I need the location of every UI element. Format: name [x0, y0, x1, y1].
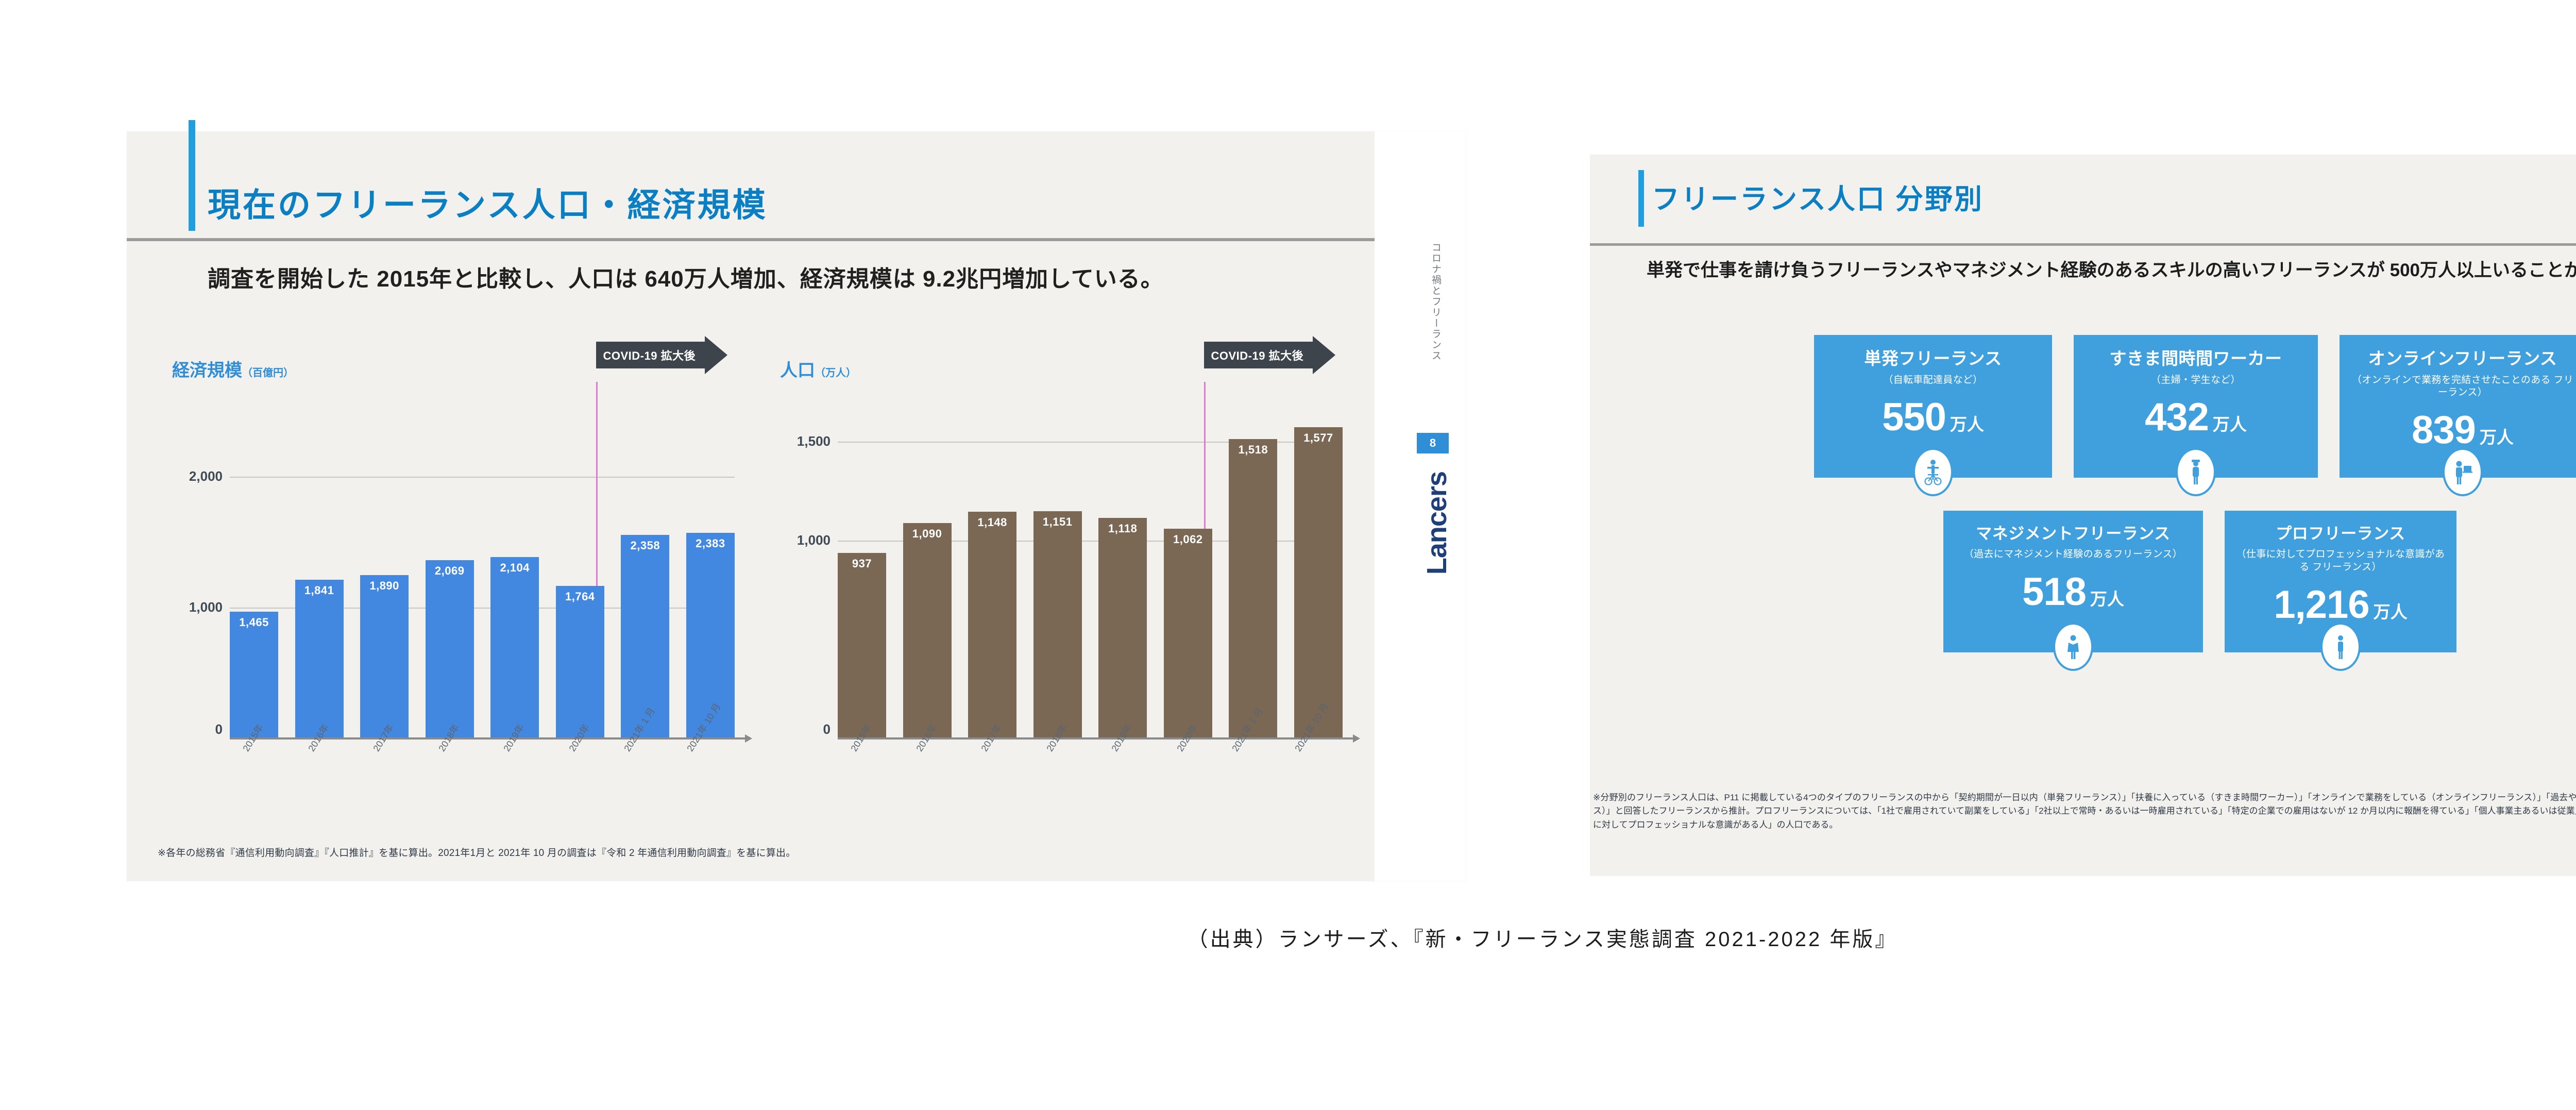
bar-slot: 1,151 2018年 — [1033, 399, 1082, 737]
bar-value: 2,358 — [621, 539, 669, 552]
bar-value: 1,148 — [968, 516, 1016, 529]
card-row-1: 単発フリーランス （自転車配達員など） 550 万人 — [1590, 335, 2576, 478]
bar-economic-2021-10: 2,383 2021年 10 月 — [686, 533, 735, 737]
bar-value: 1,090 — [903, 527, 952, 541]
ytick-economic-2000: 2,000 — [189, 468, 223, 484]
xtick-label: 2021年 1 月 — [1228, 705, 1266, 754]
title-divider-right — [1590, 243, 2576, 246]
person-standing-icon — [2176, 448, 2216, 496]
bar-slot: 937 2015年 — [838, 399, 886, 737]
card-title: マネジメントフリーランス — [1976, 524, 2170, 543]
accent-bar-right — [1638, 170, 1644, 227]
slide-left-lead: 調査を開始した 2015年と比較し、人口は 640万人増加、経済規模は 9.2兆… — [208, 260, 1164, 293]
bar-economic-2019: 2,104 2019年 — [490, 557, 539, 737]
bar-value: 2,104 — [490, 561, 539, 575]
card-tanpatsu-freelance[interactable]: 単発フリーランス （自転車配達員など） 550 万人 — [1814, 335, 2052, 478]
xaxis-population: 0 — [838, 737, 1353, 739]
card-online-freelance[interactable]: オンラインフリーランス （オンラインで業務を完結させたことのある フリーランス）… — [2340, 335, 2576, 478]
card-number: 550 — [1882, 398, 1946, 437]
lancers-logo: Lancers — [1421, 472, 1453, 575]
card-title: 単発フリーランス — [1864, 348, 2002, 369]
card-subtitle: （過去にマネジメント経験のあるフリーランス） — [1964, 548, 2182, 561]
bar-value: 1,062 — [1164, 533, 1212, 546]
ytick-economic-1000: 1,000 — [189, 599, 223, 615]
bar-slot: 1,148 2017年 — [968, 399, 1016, 737]
card-subtitle: （自転車配達員など） — [1883, 374, 1982, 387]
accent-bar-left — [189, 120, 195, 231]
bars-economic: 1,465 2015年 1,841 2016年 — [230, 399, 735, 737]
slide-left: 現在のフリーランス人口・経済規模 調査を開始した 2015年と比較し、人口は 6… — [127, 131, 1466, 881]
rail-vertical-label: コロナ禍とフリーランス — [1429, 242, 1443, 361]
ytick-economic-0: 0 — [215, 721, 223, 737]
category-cards: 単発フリーランス （自転車配達員など） 550 万人 — [1590, 335, 2576, 685]
card-unit: 万人 — [2480, 424, 2514, 448]
plot-economic: 1,000 2,000 0 COVID-19 拡大後 1,465 — [230, 399, 735, 739]
bar-slot: 1,890 2017年 — [360, 399, 409, 737]
bar-slot: 2,104 2019年 — [490, 399, 539, 737]
card-figure: 550 万人 — [1882, 398, 1984, 437]
card-number: 839 — [2412, 411, 2476, 450]
card-unit: 万人 — [1950, 411, 1984, 435]
bar-value: 1,118 — [1098, 522, 1147, 535]
card-unit: 万人 — [2374, 598, 2408, 623]
chart-economic-unit: （百億円） — [242, 367, 294, 379]
ytick-population-1500: 1,500 — [797, 433, 831, 449]
card-number: 432 — [2145, 398, 2209, 437]
card-figure: 839 万人 — [2412, 411, 2514, 450]
bar-economic-2018: 2,069 2018年 — [426, 560, 474, 737]
bar-value: 1,764 — [556, 590, 604, 603]
bar-economic-2020: 1,764 2020年 — [556, 586, 604, 737]
slide-right-footnote: ※分野別のフリーランス人口は、P11 に掲載している4つのタイプのフリーランスの… — [1590, 791, 2576, 832]
chart-zone: 経済規模（百億円） 1,000 2,000 0 COVID-19 拡大 — [127, 327, 1466, 843]
card-title: プロフリーランス — [2276, 524, 2405, 543]
bar-population-2015: 937 2015年 — [838, 553, 886, 737]
card-unit: 万人 — [2213, 411, 2247, 435]
person-suit-icon — [2053, 623, 2093, 671]
card-unit: 万人 — [2090, 585, 2124, 610]
bar-economic-2015: 1,465 2015年 — [230, 612, 278, 737]
source-caption: （出典）ランサーズ、『新・フリーランス実態調査 2021-2022 年版』 — [0, 922, 2576, 952]
chart-population-title-text: 人口 — [780, 361, 815, 380]
chart-population-unit: （万人） — [815, 367, 856, 379]
card-pro-freelance[interactable]: プロフリーランス （仕事に対してプロフェッショナルな意識がある フリーランス） … — [2225, 511, 2456, 652]
covid-badge-economic: COVID-19 拡大後 — [596, 342, 705, 368]
bar-slot: 1,465 2015年 — [230, 399, 278, 737]
bar-value: 1,890 — [360, 579, 409, 593]
person-laptop-icon — [2443, 448, 2483, 496]
bar-population-2020: 1,062 2020年 — [1164, 529, 1212, 737]
card-management-freelance[interactable]: マネジメントフリーランス （過去にマネジメント経験のあるフリーランス） 518 … — [1943, 511, 2203, 652]
bar-value: 1,518 — [1229, 443, 1277, 457]
bar-population-2021-10: 1,577 2021年 10 月 — [1294, 427, 1343, 737]
bar-value: 1,577 — [1294, 431, 1343, 445]
plot-population: 1,000 1,500 0 COVID-19 拡大後 937 — [838, 399, 1343, 739]
bar-economic-2016: 1,841 2016年 — [295, 580, 344, 737]
bar-population-2018: 1,151 2018年 — [1033, 511, 1082, 737]
xtick-label: 2021年 10 月 — [1291, 700, 1331, 754]
slide-left-rail: コロナ禍とフリーランス 8 Lancers — [1375, 131, 1466, 881]
card-figure: 1,216 万人 — [2274, 585, 2407, 625]
bar-economic-2021-01: 2,358 2021年 1 月 — [621, 535, 669, 737]
covid-badge-population: COVID-19 拡大後 — [1204, 342, 1313, 368]
bar-slot: 1,764 2020年 — [556, 399, 604, 737]
bar-slot: 1,062 2020年 — [1164, 399, 1212, 737]
page-root: 現在のフリーランス人口・経済規模 調査を開始した 2015年と比較し、人口は 6… — [0, 0, 2576, 1110]
chart-economic-title-text: 経済規模 — [172, 361, 242, 380]
bar-population-2021-01: 1,518 2021年 1 月 — [1229, 439, 1277, 737]
card-sukima-worker[interactable]: すきま間時間ワーカー （主婦・学生など） 432 万人 — [2074, 335, 2318, 478]
chart-economic-title: 経済規模（百億円） — [172, 356, 294, 381]
slide-left-footnote: ※各年の総務省『通信利用動向調査』『人口推計』を基に算出。2021年1月と 20… — [158, 845, 795, 859]
slide-left-title: 現在のフリーランス人口・経済規模 — [208, 179, 768, 226]
card-subtitle: （主婦・学生など） — [2151, 374, 2241, 387]
card-figure: 518 万人 — [2022, 573, 2124, 612]
bar-slot: 2,358 2021年 1 月 — [621, 399, 669, 737]
card-figure: 432 万人 — [2145, 398, 2247, 437]
title-divider-left — [127, 238, 1394, 241]
bar-population-2017: 1,148 2017年 — [968, 512, 1016, 737]
ytick-population-0: 0 — [823, 721, 831, 737]
chart-population-title: 人口（万人） — [780, 356, 856, 381]
bar-population-2019: 1,118 2019年 — [1098, 518, 1147, 737]
bar-value: 2,383 — [686, 537, 735, 550]
bar-value: 1,151 — [1033, 515, 1082, 529]
chart-population: 人口（万人） 1,000 1,500 0 COVID-19 拡大後 — [766, 327, 1374, 843]
bar-population-2016: 1,090 2016年 — [903, 523, 952, 737]
bar-value: 2,069 — [426, 564, 474, 578]
chart-economic-scale: 経済規模（百億円） 1,000 2,000 0 COVID-19 拡大 — [158, 327, 766, 843]
bar-slot: 2,069 2018年 — [426, 399, 474, 737]
slide-right-lead: 単発で仕事を請け負うフリーランスやマネジメント経験のあるスキルの高いフリーランス… — [1647, 258, 2576, 284]
card-number: 518 — [2022, 573, 2086, 612]
slide-right-title: フリーランス人口 分野別 — [1652, 176, 1984, 217]
bar-slot: 1,518 2021年 1 月 — [1229, 399, 1277, 737]
bars-population: 937 2015年 1,090 2016年 1, — [838, 399, 1343, 737]
xtick-label: 2021年 1 月 — [620, 705, 658, 754]
card-number: 1,216 — [2274, 585, 2369, 625]
person-pro-icon — [2320, 623, 2361, 671]
card-subtitle: （仕事に対してプロフェッショナルな意識がある フリーランス） — [2234, 548, 2447, 574]
xaxis-economic: 0 — [230, 737, 745, 739]
bar-slot: 2,383 2021年 10 月 — [686, 399, 735, 737]
xtick-label: 2021年 10 月 — [683, 700, 723, 754]
card-title: すきま間時間ワーカー — [2110, 348, 2282, 369]
bar-slot: 1,118 2019年 — [1098, 399, 1147, 737]
slide-right: フリーランス人口 分野別 単発で仕事を請け負うフリーランスやマネジメント経験のあ… — [1590, 155, 2576, 876]
ytick-population-1000: 1,000 — [797, 532, 831, 548]
card-row-2: マネジメントフリーランス （過去にマネジメント経験のあるフリーランス） 518 … — [1590, 511, 2576, 652]
bar-value: 1,841 — [295, 584, 344, 597]
card-subtitle: （オンラインで業務を完結させたことのある フリーランス） — [2349, 374, 2576, 399]
bar-value: 937 — [838, 557, 886, 570]
card-title: オンラインフリーランス — [2368, 348, 2557, 369]
bar-slot: 1,841 2016年 — [295, 399, 344, 737]
cyclist-icon — [1913, 448, 1953, 496]
bar-slot: 1,577 2021年 10 月 — [1294, 399, 1343, 737]
bar-slot: 1,090 2016年 — [903, 399, 952, 737]
page-number-badge: 8 — [1417, 433, 1449, 453]
bar-value: 1,465 — [230, 616, 278, 629]
bar-economic-2017: 1,890 2017年 — [360, 575, 409, 737]
